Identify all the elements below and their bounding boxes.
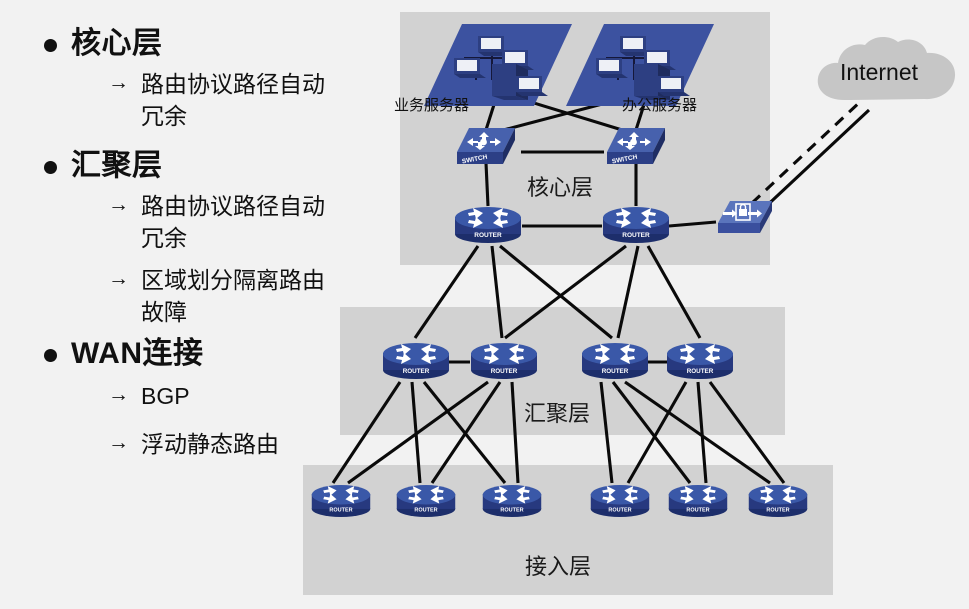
aggregation-router-3[interactable]: ROUTER xyxy=(580,340,650,387)
router-icon: ROUTER xyxy=(310,482,372,520)
svg-text:ROUTER: ROUTER xyxy=(500,508,523,514)
server-label-business: 业务服务器 xyxy=(394,94,469,115)
core-switch-right[interactable]: SWITCH xyxy=(601,126,671,175)
access-router-6[interactable]: ROUTER xyxy=(747,482,809,525)
svg-text:ROUTER: ROUTER xyxy=(474,232,502,239)
access-router-3[interactable]: ROUTER xyxy=(481,482,543,525)
access-router-1[interactable]: ROUTER xyxy=(310,482,372,525)
svg-text:ROUTER: ROUTER xyxy=(608,508,631,514)
router-icon: ROUTER xyxy=(395,482,457,520)
network-topology-diagram: 业务服务器 xyxy=(0,0,969,609)
svg-text:ROUTER: ROUTER xyxy=(602,368,629,375)
svg-text:ROUTER: ROUTER xyxy=(414,508,437,514)
switch-icon: SWITCH xyxy=(601,126,671,170)
switch-icon: SWITCH xyxy=(451,126,521,170)
slide-canvas: 核心层 → 路由协议路径自动冗余 汇聚层 → 路由协议路径自动冗余 → 区域划分… xyxy=(0,0,969,609)
server-cluster-office[interactable]: 办公服务器 xyxy=(566,22,714,113)
core-router-right[interactable]: ROUTER xyxy=(601,204,671,251)
access-router-4[interactable]: ROUTER xyxy=(589,482,651,525)
router-icon: ROUTER xyxy=(589,482,651,520)
svg-text:ROUTER: ROUTER xyxy=(622,232,650,239)
server-label-office: 办公服务器 xyxy=(622,94,697,115)
server-cluster-business[interactable]: 业务服务器 xyxy=(424,22,572,113)
internet-cloud[interactable]: Internet xyxy=(810,34,962,121)
router-icon: ROUTER xyxy=(747,482,809,520)
router-icon: ROUTER xyxy=(481,482,543,520)
panel-label-core: 核心层 xyxy=(527,170,593,202)
firewall-icon xyxy=(714,198,776,242)
core-router-left[interactable]: ROUTER xyxy=(453,204,523,251)
router-icon: ROUTER xyxy=(381,340,451,382)
svg-text:ROUTER: ROUTER xyxy=(403,368,430,375)
router-icon: ROUTER xyxy=(667,482,729,520)
access-router-2[interactable]: ROUTER xyxy=(395,482,457,525)
svg-text:ROUTER: ROUTER xyxy=(686,508,709,514)
svg-text:ROUTER: ROUTER xyxy=(766,508,789,514)
aggregation-router-2[interactable]: ROUTER xyxy=(469,340,539,387)
svg-text:ROUTER: ROUTER xyxy=(329,508,352,514)
panel-label-access: 接入层 xyxy=(525,549,591,581)
router-icon: ROUTER xyxy=(601,204,671,246)
router-icon: ROUTER xyxy=(453,204,523,246)
cloud-label: Internet xyxy=(840,59,918,86)
core-switch-left[interactable]: SWITCH xyxy=(451,126,521,175)
router-icon: ROUTER xyxy=(580,340,650,382)
firewall[interactable] xyxy=(714,198,776,247)
access-router-5[interactable]: ROUTER xyxy=(667,482,729,525)
svg-text:ROUTER: ROUTER xyxy=(491,368,518,375)
router-icon: ROUTER xyxy=(665,340,735,382)
svg-text:ROUTER: ROUTER xyxy=(687,368,714,375)
router-icon: ROUTER xyxy=(469,340,539,382)
aggregation-router-1[interactable]: ROUTER xyxy=(381,340,451,387)
aggregation-router-4[interactable]: ROUTER xyxy=(665,340,735,387)
panel-label-aggregation: 汇聚层 xyxy=(524,396,590,428)
